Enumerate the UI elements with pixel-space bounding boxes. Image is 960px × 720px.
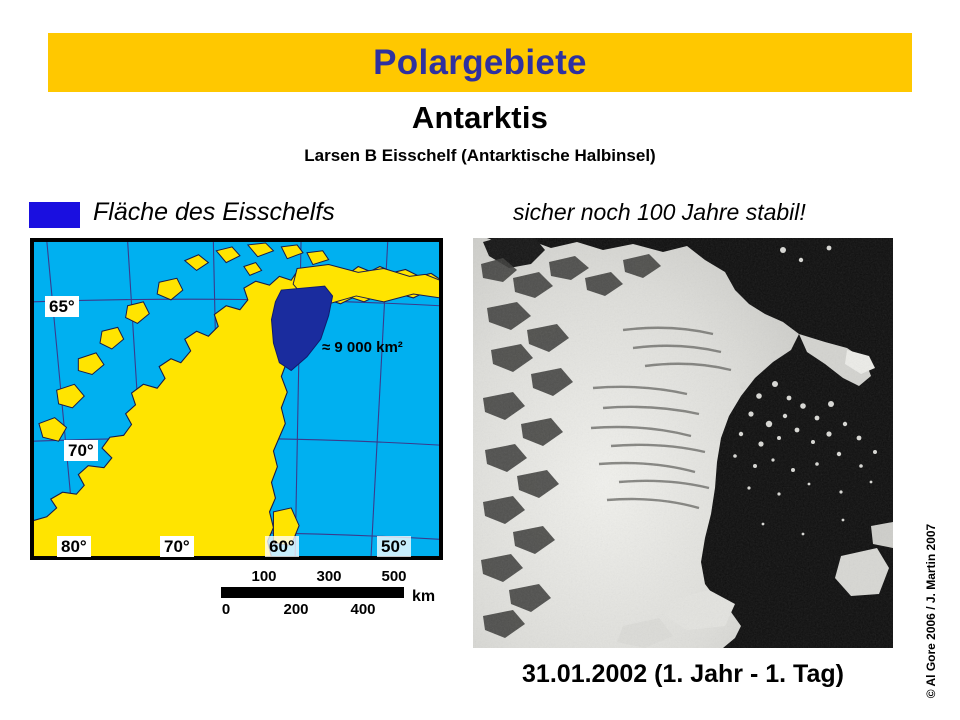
scale-segment [282, 587, 343, 598]
heading-larsen-b: Larsen B Eisschelf (Antarktische Halbins… [0, 146, 960, 166]
scale-bottom-ticks: 0 200 400 [216, 601, 416, 617]
copyright-text: © Al Gore 2006 / J. Martin 2007 [924, 524, 938, 698]
photo-caption: 31.01.2002 (1. Jahr - 1. Tag) [473, 660, 893, 689]
scale-tick-400: 400 [350, 601, 375, 618]
legend-color-swatch [29, 202, 80, 228]
map-lon-label-70: 70° [160, 536, 194, 557]
legend-label: Fläche des Eisschelfs [93, 198, 335, 227]
stability-note: sicher noch 100 Jahre stabil! [513, 199, 806, 226]
scale-segment [343, 587, 404, 598]
heading-antarktis: Antarktis [0, 100, 960, 136]
map-lat-label-70: 70° [64, 440, 98, 461]
antarctic-peninsula-map [30, 238, 443, 560]
map-scale-bar: 100 300 500 0 200 400 km [216, 568, 436, 618]
map-lon-label-80: 80° [57, 536, 91, 557]
satellite-photo-larsen-b [473, 238, 893, 648]
scale-bar-track [221, 587, 404, 598]
scale-tick-100: 100 [251, 568, 276, 585]
scale-segment [221, 587, 282, 598]
photo-grain-overlay-soft [473, 238, 893, 648]
satellite-photo-graphic [473, 238, 893, 648]
copyright-notice: © Al Gore 2006 / J. Martin 2007 [921, 516, 941, 706]
iceshelf-area-label: ≈ 9 000 km² [322, 339, 403, 356]
scale-tick-300: 300 [316, 568, 341, 585]
scale-tick-200: 200 [283, 601, 308, 618]
scale-tick-0: 0 [222, 601, 230, 618]
page-title: Polargebiete [373, 45, 587, 80]
map-lat-label-65: 65° [45, 296, 79, 317]
scale-unit-label: km [412, 588, 435, 606]
map-lon-label-60: 60° [265, 536, 299, 557]
map-graphic [33, 241, 440, 557]
scale-top-ticks: 100 300 500 [216, 568, 416, 584]
title-banner: Polargebiete [48, 33, 912, 92]
map-lon-label-50: 50° [377, 536, 411, 557]
scale-tick-500: 500 [381, 568, 406, 585]
